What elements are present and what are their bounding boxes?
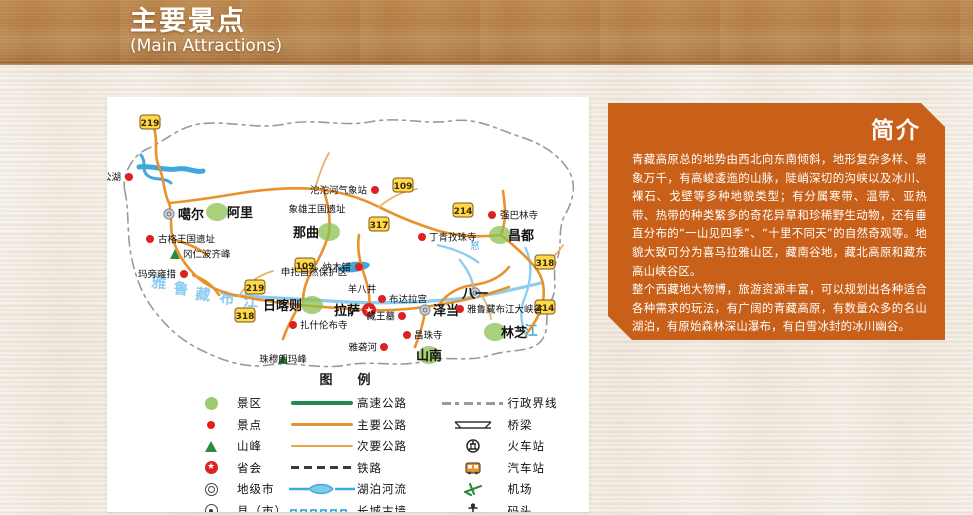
county-icon <box>185 504 237 512</box>
legend-item: 桥梁 <box>438 416 563 434</box>
map-place-label: 拉萨 <box>334 303 360 319</box>
legend-label: 铁路 <box>357 460 382 476</box>
green-triangle-icon <box>185 441 237 452</box>
map-place-label: 冈仁波齐峰 <box>183 248 231 260</box>
map-card[interactable]: 怒 江 雅 鲁 藏 布 江 <box>107 97 589 512</box>
intro-panel: 简介 青藏高原总的地势由西北向东南倾斜，地形复杂多样、景象万千，有高峻逶迤的山脉… <box>608 103 945 340</box>
main-road-line-icon <box>287 423 357 426</box>
svg-text:317: 317 <box>370 221 389 231</box>
expressway-line-icon <box>287 401 357 405</box>
map-place[interactable]: 林芝 <box>484 323 527 341</box>
map-place-label: 强巴林寺 <box>500 209 539 221</box>
prefecture-city-icon <box>185 483 237 496</box>
legend-label: 景区 <box>237 395 262 411</box>
legend-item: 地级市 <box>185 480 287 498</box>
legend-item: 主要公路 <box>287 416 438 434</box>
map-place[interactable]: 玛旁雍措 <box>138 268 188 280</box>
tibet-map[interactable]: 怒 江 雅 鲁 藏 布 江 <box>107 97 589 377</box>
svg-text:214: 214 <box>454 207 473 217</box>
map-place-label: 雅砻河 <box>348 341 377 353</box>
map-place-label: 珠穆朗玛峰 <box>259 353 307 365</box>
port-icon <box>438 503 508 513</box>
legend-item: 汽车站 <box>438 459 563 477</box>
map-place[interactable]: 日喀则 <box>263 296 323 314</box>
legend-label: 汽车站 <box>508 460 546 476</box>
map-place-label: 日喀则 <box>263 298 302 314</box>
page-title: 主要景点 (Main Attractions) <box>130 8 282 57</box>
legend-label: 次要公路 <box>357 438 407 454</box>
legend-item: 次要公路 <box>287 437 438 455</box>
map-place[interactable]: 沱沱河气象站 <box>310 184 379 196</box>
legend-item: 码头 <box>438 502 563 513</box>
route-shield: 317 <box>369 217 389 231</box>
great-wall-icon <box>287 505 357 513</box>
legend-label: 长城古墙 <box>357 503 407 513</box>
map-place[interactable]: 古格王国遗址 <box>146 233 216 245</box>
svg-text:鲁: 鲁 <box>173 279 190 298</box>
route-shield: 109 <box>393 178 413 192</box>
legend-item: 景点 <box>185 416 287 434</box>
map-place[interactable]: 强巴林寺 <box>488 209 539 221</box>
map-place[interactable]: 羊八井 <box>348 283 377 295</box>
legend-label: 桥梁 <box>508 417 533 433</box>
bridge-icon <box>438 418 508 432</box>
legend-column-facilities: 行政界线 桥梁 <box>438 394 563 512</box>
map-place-label: 泽当 <box>433 303 459 319</box>
map-place-label: 阿里 <box>227 206 253 221</box>
legend-column-points: 景区 景点 山峰 ★ 省会 地级市 <box>185 394 287 512</box>
intro-body: 青藏高原总的地势由西北向东南倾斜，地形复杂多样、景象万千，有高峻逶迤的山脉，陡峭… <box>632 150 927 336</box>
map-place[interactable]: 阿里 <box>206 203 253 221</box>
map-place-label: 丁青孜珠寺 <box>429 231 477 243</box>
map-place-label: 扎什伦布寺 <box>300 319 348 331</box>
provincial-capital-icon: ★ <box>185 461 237 474</box>
map-place-label: 沱沱河气象站 <box>310 184 368 196</box>
legend-label: 山峰 <box>237 438 262 454</box>
map-place-label: 山南 <box>416 348 442 364</box>
map-place-label: 昌都 <box>508 228 534 244</box>
map-place[interactable]: 昌珠寺 <box>403 329 443 341</box>
route-shield: 219 <box>140 115 160 129</box>
map-place-label: 布达拉宫 <box>389 293 427 305</box>
legend-item: 行政界线 <box>438 394 563 412</box>
legend-label: 主要公路 <box>357 417 407 433</box>
map-place[interactable]: 扎什伦布寺 <box>289 319 348 331</box>
map-place-label: 林芝 <box>501 325 527 341</box>
svg-text:219: 219 <box>141 119 160 129</box>
green-circle-icon <box>185 397 237 410</box>
map-place-label: 纳木错 <box>322 261 351 273</box>
map-place-label: 羊八井 <box>348 283 377 295</box>
train-station-icon <box>438 438 508 454</box>
legend-item: 机场 <box>438 480 563 498</box>
map-place-label: 八一 <box>461 287 488 302</box>
svg-text:109: 109 <box>394 182 413 192</box>
legend-label: 高速公路 <box>357 395 407 411</box>
legend-label: 码头 <box>508 503 533 513</box>
intro-paragraph-2: 整个西藏地大物博，旅游资源丰富，可以规划出各种适合各种需求的玩法，有广阔的青藏高… <box>632 280 927 336</box>
legend-item: 长城古墙 <box>287 502 438 513</box>
map-place[interactable]: 丁青孜珠寺 <box>418 231 477 243</box>
svg-text:219: 219 <box>246 284 265 294</box>
legend-label: 地级市 <box>237 481 275 497</box>
airport-icon <box>438 481 508 497</box>
map-place[interactable]: 雅砻河 <box>348 341 388 353</box>
legend-item: 高速公路 <box>287 394 438 412</box>
map-place-label: 象雄王国遗址 <box>288 203 346 215</box>
route-shield: 214 <box>453 203 473 217</box>
legend-item: 县（市） <box>185 502 287 513</box>
secondary-road-line-icon <box>287 445 357 448</box>
map-place[interactable]: 藏王墓 <box>366 310 406 322</box>
boundary-line-icon <box>438 402 508 405</box>
svg-text:318: 318 <box>236 312 255 322</box>
map-place-label: 噶尔 <box>178 207 204 223</box>
legend-column-lines: 高速公路 主要公路 次要公路 铁路 <box>287 394 438 512</box>
legend-item: ★ 省会 <box>185 459 287 477</box>
route-shield: 219 <box>245 280 265 294</box>
legend-label: 火车站 <box>508 438 546 454</box>
map-place-label: 雅鲁藏布江大峡谷 <box>467 303 544 315</box>
map-place[interactable]: 珠穆朗玛峰 <box>259 353 307 365</box>
legend-item: 湖泊河流 <box>287 480 438 498</box>
map-place[interactable]: 昌都 <box>489 226 534 244</box>
map-place-label: 玛旁雍措 <box>138 268 177 280</box>
map-place[interactable]: 八一 <box>461 287 488 302</box>
map-place-label: 那曲 <box>293 225 319 241</box>
page-title-cn: 主要景点 <box>130 8 282 36</box>
map-place-label: 昌珠寺 <box>414 329 443 341</box>
svg-text:藏: 藏 <box>195 285 212 304</box>
map-place[interactable]: 那曲 <box>293 223 340 241</box>
map-place[interactable]: 象雄王国遗址 <box>288 203 346 215</box>
legend-item: 火车站 <box>438 437 563 455</box>
legend-label: 湖泊河流 <box>357 481 407 497</box>
map-place[interactable]: 山南 <box>416 346 442 364</box>
page-title-en: (Main Attractions) <box>130 37 282 57</box>
legend-label: 机场 <box>508 481 533 497</box>
bangong-lake <box>139 167 203 172</box>
intro-title: 简介 <box>871 111 921 145</box>
map-place[interactable]: 雅鲁藏布江大峡谷 <box>456 303 544 315</box>
legend-label: 省会 <box>237 460 262 476</box>
railway-line-icon <box>287 466 357 469</box>
map-place[interactable]: 泽当 <box>420 303 459 319</box>
legend-item: 铁路 <box>287 459 438 477</box>
legend-item: 景区 <box>185 394 287 412</box>
route-shield: 318 <box>235 308 255 322</box>
bus-station-icon <box>438 460 508 476</box>
svg-text:318: 318 <box>536 259 555 269</box>
legend-title: 图 例 <box>107 369 589 388</box>
legend-label: 行政界线 <box>508 395 558 411</box>
map-place-label: 藏王墓 <box>366 310 395 322</box>
map-place-label: 班公湖 <box>107 171 121 183</box>
map-place[interactable]: 班公湖 <box>107 171 133 183</box>
legend-label: 县（市） <box>237 503 287 513</box>
intro-paragraph-1: 青藏高原总的地势由西北向东南倾斜，地形复杂多样、景象万千，有高峻逶迤的山脉，陡峭… <box>632 150 927 280</box>
red-dot-icon <box>185 421 237 429</box>
route-shield: 318 <box>535 255 555 269</box>
legend-item: 山峰 <box>185 437 287 455</box>
map-place-label: 古格王国遗址 <box>158 233 216 245</box>
lake-river-icon <box>287 482 357 496</box>
legend-label: 景点 <box>237 417 262 433</box>
map-legend: 图 例 景区 景点 山峰 ★ 省会 <box>107 369 589 512</box>
